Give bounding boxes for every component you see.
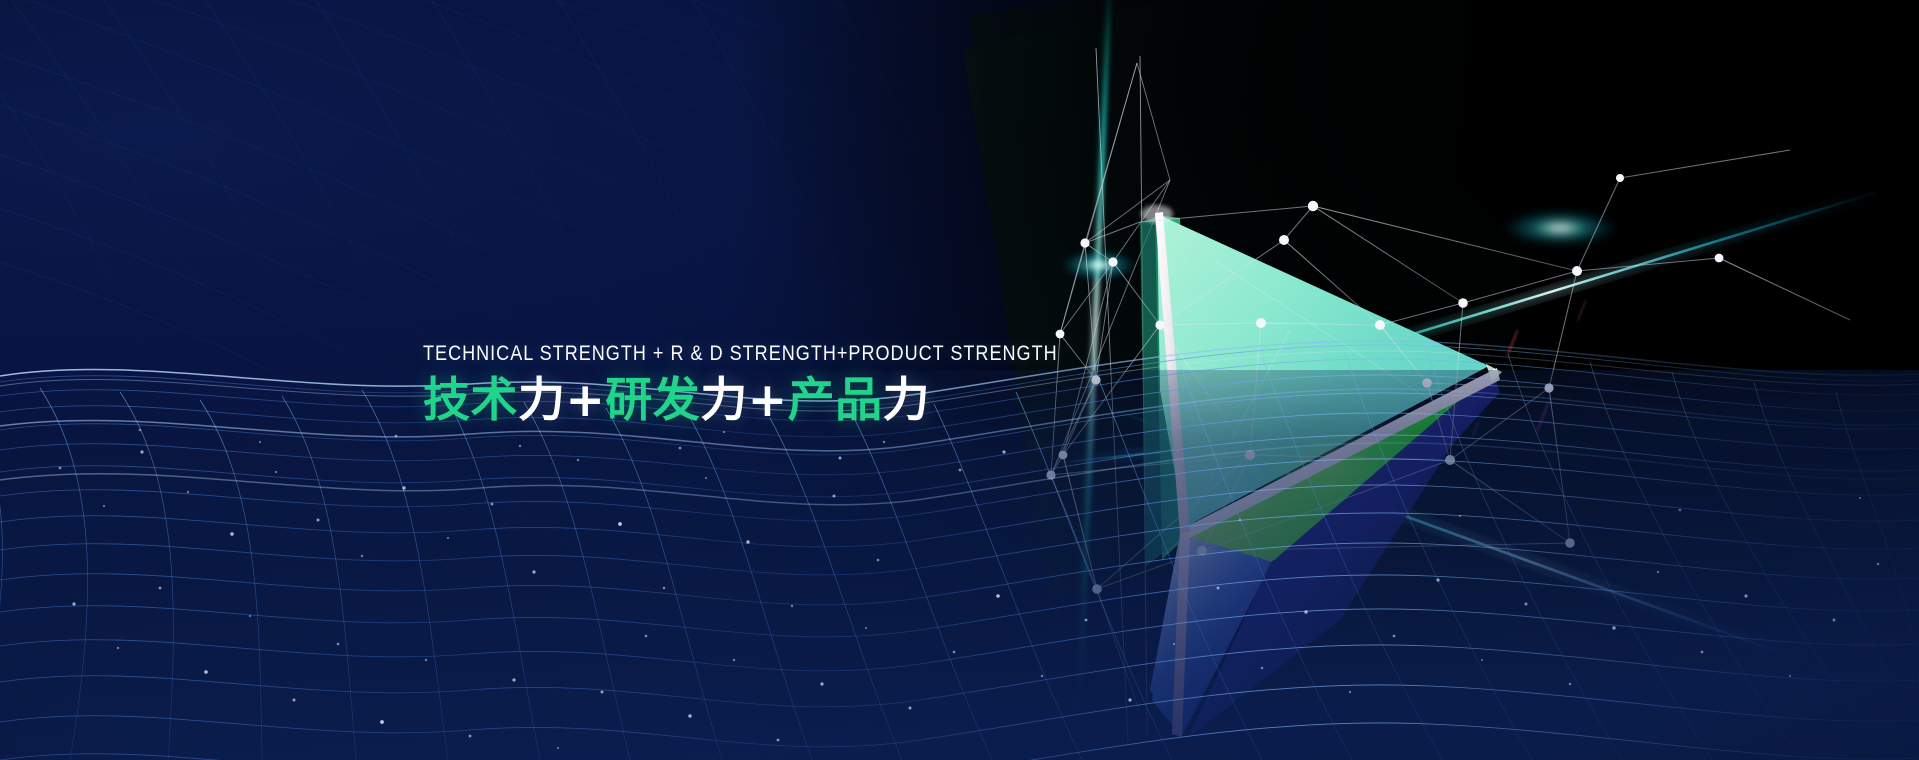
headline-segment-5: 产品	[788, 373, 883, 428]
headline-plus-1: +	[565, 373, 605, 428]
hero-banner: TECHNICAL STRENGTH + R & D STRENGTH+PROD…	[0, 0, 1919, 760]
headline-segment-2: 力	[518, 373, 565, 428]
headline-segment-1: 技术	[423, 373, 518, 428]
headline-segment-4: 力	[700, 373, 747, 428]
headline-block: TECHNICAL STRENGTH + R & D STRENGTH+PROD…	[423, 342, 1161, 429]
eyebrow-text: TECHNICAL STRENGTH + R & D STRENGTH+PROD…	[423, 342, 1058, 365]
headline-segment-3: 研发	[605, 373, 700, 428]
headline-plus-2: +	[748, 373, 788, 428]
headline-segment-6: 力	[883, 373, 930, 428]
headline-text: 技术力+研发力+产品力	[423, 373, 1161, 428]
